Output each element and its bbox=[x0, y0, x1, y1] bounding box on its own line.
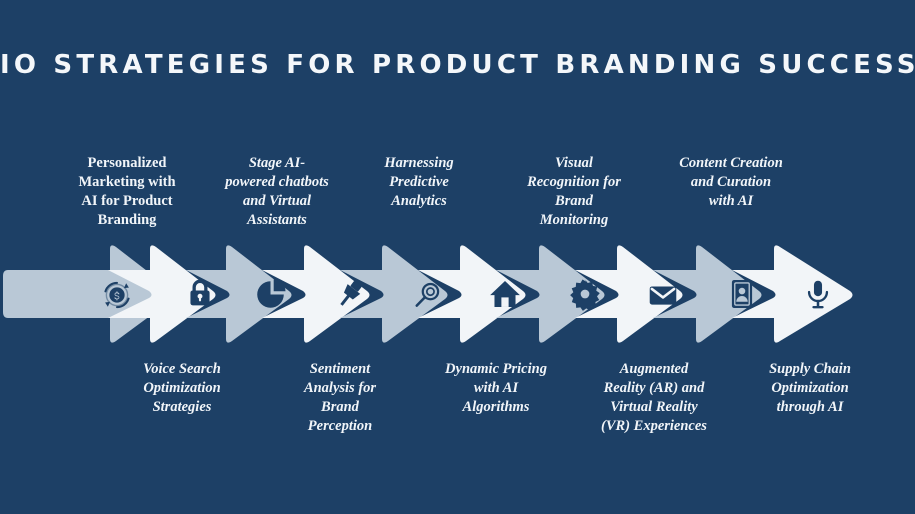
step-label-4: Sentiment Analysis for Brand Perception bbox=[282, 360, 398, 436]
step-label-5: Harnessing Predictive Analytics bbox=[360, 154, 478, 211]
step-label-9: Content Creation and Curation with AI bbox=[664, 154, 798, 211]
step-label-3: Stage AI- powered chatbots and Virtual A… bbox=[212, 154, 342, 230]
chevron-sequence bbox=[0, 240, 915, 350]
step-label-1: Personalized Marketing with AI for Produ… bbox=[62, 154, 192, 230]
step-label-7: Visual Recognition for Brand Monitoring bbox=[508, 154, 640, 230]
step-label-8: Augmented Reality (AR) and Virtual Reali… bbox=[586, 360, 722, 436]
process-arrow-row bbox=[0, 240, 915, 350]
page-title: IO STRATEGIES FOR PRODUCT BRANDING SUCCE… bbox=[0, 50, 915, 80]
step-label-6: Dynamic Pricing with AI Algorithms bbox=[432, 360, 560, 417]
step-label-2: Voice Search Optimization Strategies bbox=[120, 360, 244, 417]
infographic-canvas: IO STRATEGIES FOR PRODUCT BRANDING SUCCE… bbox=[0, 0, 915, 514]
chevron-1[interactable] bbox=[3, 245, 176, 342]
step-label-10: Supply Chain Optimization through AI bbox=[748, 360, 872, 417]
